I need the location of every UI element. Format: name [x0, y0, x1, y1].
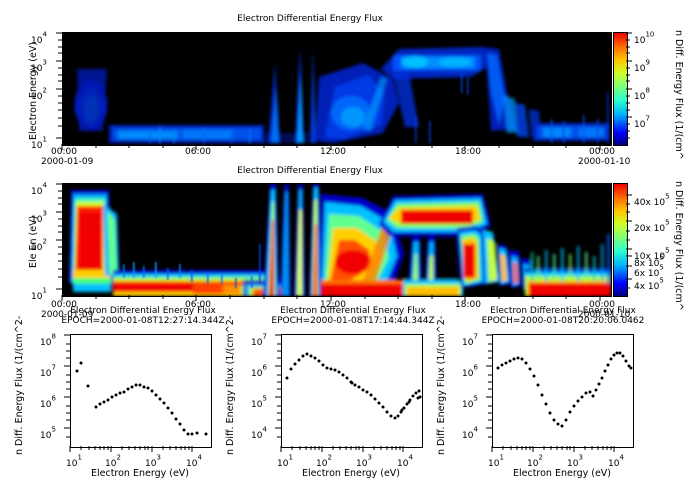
spectrum-3-ylabel-wrap: n Diff. Energy Flux (1/(cm^2- [436, 455, 575, 466]
spectrum-1-ytick-5: 105 [40, 423, 56, 442]
top-colorbar [613, 32, 628, 146]
spectrum-2-ylabel-wrap: n Diff. Energy Flux (1/(cm^2- [225, 455, 364, 466]
top-spectrogram-plot [62, 32, 612, 146]
top-panel-xtick-1: 06:00 [185, 147, 211, 157]
spectrum-3-plot [492, 334, 634, 448]
top-panel-title: Electron Differential Energy Flux [0, 14, 620, 24]
top-colorbar-tick-9: 109 [634, 56, 650, 75]
spectrum-2-ytick-5: 105 [251, 392, 267, 411]
mid-panel-ytick-1: 102 [31, 235, 47, 254]
spectrum-3-ytick-7: 107 [462, 330, 478, 349]
mid-colorbar-tick-40: 40x 105 [634, 190, 670, 209]
top-colorbar-tick-7: 107 [634, 112, 650, 131]
spectrum-1-ytick-8: 108 [40, 330, 56, 349]
spectrum-1-points [71, 335, 211, 447]
mid-colorbar-label: n Diff. Energy Flux (1/(cm^ [673, 181, 684, 311]
top-colorbar-tick-10: 1010 [634, 28, 654, 47]
spectrum-2-title: Electron Differential Energy Flux [258, 306, 448, 316]
spectrum-2-epoch: EPOCH=2000-01-08T17:14:44.344Z [248, 316, 458, 326]
spectrum-2-ytick-7: 107 [251, 330, 267, 349]
spectrum-2-xlabel: Electron Energy (eV) [281, 468, 421, 479]
top-colorbar-gradient [614, 33, 627, 145]
mid-panel-ytick-0: 101 [31, 284, 47, 303]
mid-colorbar-gradient [614, 184, 627, 296]
spectrum-1-ylabel-wrap: n Diff. Energy Flux (1/(cm^2- [14, 455, 153, 466]
top-panel-xtick-4: 00:00 [589, 147, 615, 157]
mid-spectrogram-plot [62, 183, 612, 297]
spectrum-3-ytick-4: 104 [462, 423, 478, 442]
top-panel-ytick-0: 101 [31, 133, 47, 152]
spectrum-1-ytick-6: 106 [40, 392, 56, 411]
top-colorbar-label-wrap: n Diff. Energy Flux (1/(cm^ [684, 30, 697, 41]
mid-colorbar [613, 183, 628, 297]
spectrum-3-ylabel: n Diff. Energy Flux (1/(cm^2- [436, 316, 447, 455]
spectrum-1-epoch: EPOCH=2000-01-08T12:27:14.344Z [38, 316, 248, 326]
spectrum-3-title: Electron Differential Energy Flux [468, 306, 658, 316]
spectrum-3-ytick-6: 106 [462, 361, 478, 380]
spectrum-2-ylabel: n Diff. Energy Flux (1/(cm^2- [225, 316, 236, 455]
top-panel-xtick-3: 18:00 [455, 147, 481, 157]
spectrum-2-ytick-4: 104 [251, 423, 267, 442]
spectrum-2-ytick-6: 106 [251, 361, 267, 380]
top-colorbar-tick-8: 108 [634, 84, 650, 103]
spectrum-2-plot [281, 334, 423, 448]
spectrum-1-ylabel: n Diff. Energy Flux (1/(cm^2- [14, 316, 25, 455]
mid-panel-ytick-2: 103 [31, 207, 47, 226]
spectrum-1-ytick-7: 107 [40, 361, 56, 380]
mid-colorbar-tick-20: 20x 105 [634, 216, 670, 235]
spectrum-2-points [282, 335, 422, 447]
mid-panel-ytick-3: 104 [31, 179, 47, 198]
spectrum-3-xlabel: Electron Energy (eV) [492, 468, 632, 479]
top-spectrogram-canvas [63, 33, 611, 145]
top-colorbar-label: n Diff. Energy Flux (1/(cm^ [673, 30, 684, 160]
top-panel-ytick-3: 104 [31, 28, 47, 47]
spectrum-1-xlabel: Electron Energy (eV) [70, 468, 210, 479]
mid-colorbar-label-wrap: n Diff. Energy Flux (1/(cm^ [684, 181, 697, 192]
spectrum-3-ytick-5: 105 [462, 392, 478, 411]
spectrum-1-title: Electron Differential Energy Flux [48, 306, 238, 316]
mid-colorbar-tick-4: 4x 105 [634, 274, 664, 293]
top-panel-xtick-0: 00:00 [51, 147, 77, 157]
spectrum-3-epoch: EPOCH=2000-01-08T20:20:06.0462 [458, 316, 668, 326]
mid-spectrogram-canvas [63, 184, 611, 296]
spectrum-1-plot [70, 334, 212, 448]
top-panel-ytick-1: 102 [31, 84, 47, 103]
top-panel-ytick-2: 103 [31, 56, 47, 75]
top-panel-xtick-2: 12:00 [320, 147, 346, 157]
mid-panel-title: Electron Differential Energy Flux [0, 166, 620, 176]
spectrum-3-points [493, 335, 633, 447]
